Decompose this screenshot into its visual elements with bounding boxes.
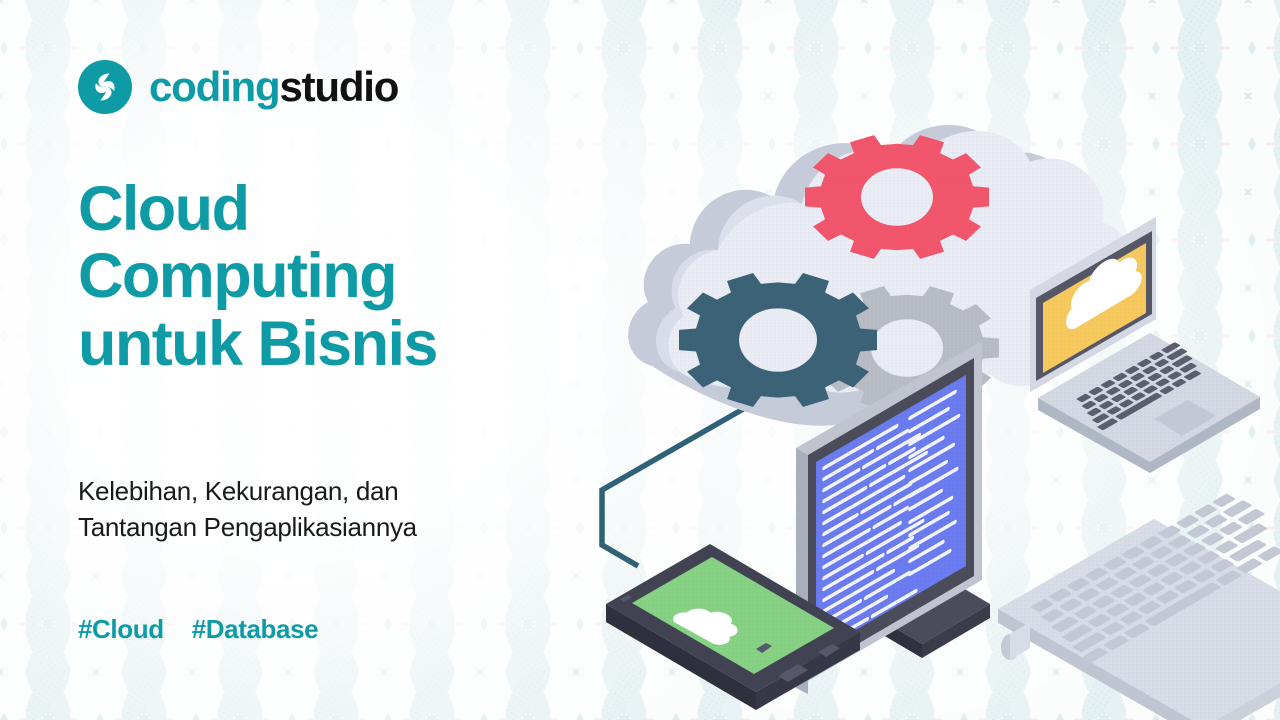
brand-name-part2: studio [279, 63, 398, 110]
headline-line-2: Computing [78, 243, 598, 310]
hashtag-cloud[interactable]: #Cloud [78, 614, 164, 645]
brand-logo[interactable]: codingstudio [78, 60, 398, 114]
subtitle-line-2: Tantangan Pengaplikasiannya [78, 510, 578, 546]
keyboard [998, 492, 1280, 720]
hashtag-database[interactable]: #Database [192, 614, 318, 645]
cloud-computing-illustration [560, 0, 1280, 720]
poster-canvas: codingstudio Cloud Computing untuk Bisni… [0, 0, 1280, 720]
hashtag-list: #Cloud #Database [78, 614, 318, 645]
codingstudio-logo-icon [78, 60, 132, 114]
text-column: codingstudio Cloud Computing untuk Bisni… [78, 0, 608, 720]
page-subtitle: Kelebihan, Kekurangan, dan Tantangan Pen… [78, 474, 578, 545]
page-title: Cloud Computing untuk Bisnis [78, 176, 598, 378]
headline-line-1: Cloud [78, 176, 598, 243]
brand-wordmark: codingstudio [149, 66, 398, 108]
headline-line-3: untuk Bisnis [78, 311, 598, 378]
brand-name-part1: coding [149, 63, 279, 110]
subtitle-line-1: Kelebihan, Kekurangan, dan [78, 474, 578, 510]
